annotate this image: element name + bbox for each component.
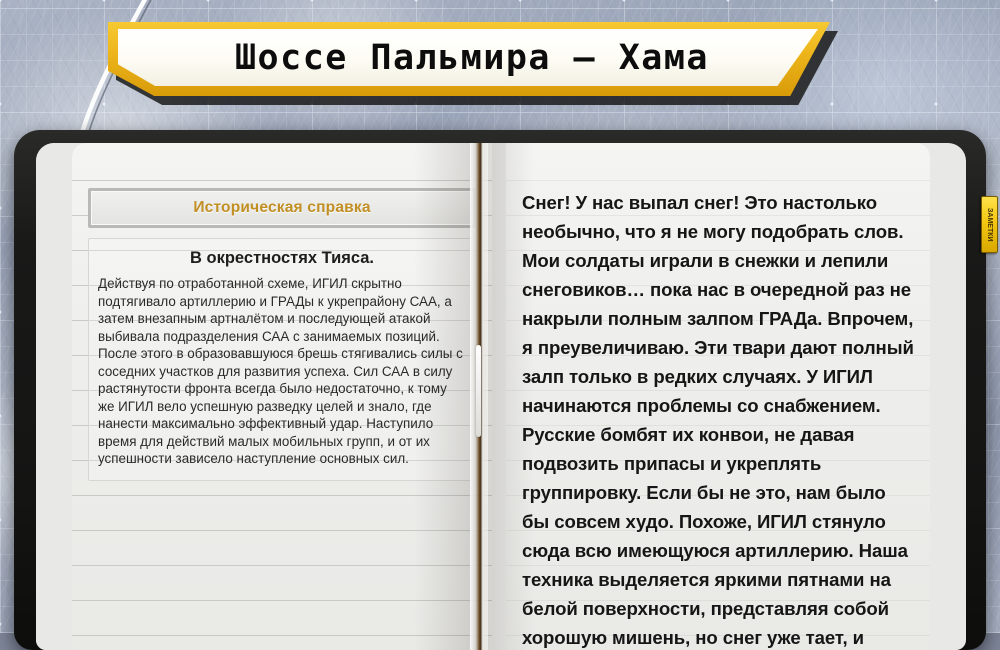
bookmark-tab[interactable]: ЗАМЕТКИ	[981, 196, 998, 253]
section-header-box: Историческая справка	[88, 188, 476, 228]
left-page-content: Историческая справка В окрестностях Тияс…	[88, 188, 476, 481]
page-block: Историческая справка В окрестностях Тияс…	[36, 143, 966, 650]
open-book: Историческая справка В окрестностях Тияс…	[14, 130, 986, 650]
left-page-text-box: В окрестностях Тияса. Действуя по отрабо…	[88, 238, 476, 481]
right-page: Снег! У нас выпал снег! Это настолько не…	[506, 143, 930, 650]
right-page-content: Снег! У нас выпал снег! Это настолько не…	[522, 188, 914, 650]
left-page: Историческая справка В окрестностях Тияс…	[72, 143, 492, 650]
bookmark-tab-label: ЗАМЕТКИ	[986, 208, 993, 242]
left-page-body: Действуя по отработанной схеме, ИГИЛ скр…	[98, 275, 466, 468]
spine-highlight	[476, 345, 481, 437]
banner-face: Шоссе Пальмира — Хама	[118, 29, 818, 86]
title-banner: Шоссе Пальмира — Хама	[108, 22, 838, 102]
page-title: Шоссе Пальмира — Хама	[235, 38, 709, 78]
left-page-heading: В окрестностях Тияса.	[98, 249, 466, 268]
section-header-label: Историческая справка	[193, 199, 370, 217]
right-page-body: Снег! У нас выпал снег! Это настолько не…	[522, 188, 914, 650]
